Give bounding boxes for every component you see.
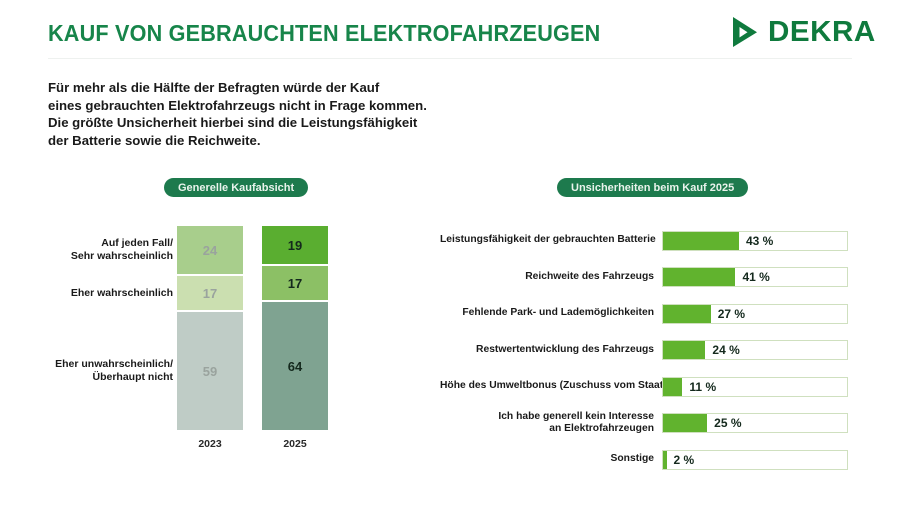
stack-segment: 59 (177, 312, 243, 430)
bar-label: Fehlende Park- und Lademöglichkeiten (440, 307, 662, 319)
bar-track: 25 % (662, 413, 848, 433)
bar-fill (663, 341, 705, 359)
header-divider (48, 58, 852, 59)
bar-label: Leistungsfähigkeit der gebrauchten Batte… (440, 234, 662, 246)
bar-fill (663, 268, 735, 286)
bar-fill (663, 232, 739, 250)
bar-value: 24 % (705, 341, 739, 359)
bar-value: 2 % (667, 451, 695, 469)
subtitle-line-1: Für mehr als die Hälfte der Befragten wü… (48, 79, 518, 97)
bar-fill (663, 378, 682, 396)
bar-label: Restwertentwicklung des Fahrzeugs (440, 344, 662, 356)
stack-segment: 17 (262, 266, 328, 300)
bar-label: Sonstige (440, 453, 662, 465)
bar-label: Höhe des Umweltbonus (Zuschuss vom Staat… (440, 380, 662, 392)
section-pill-kaufabsicht: Generelle Kaufabsicht (164, 178, 308, 197)
bar-label: Reichweite des Fahrzeugs (440, 271, 662, 283)
section-pill-unsicherheiten: Unsicherheiten beim Kauf 2025 (557, 178, 748, 197)
stack-column-2023: 241759 (177, 226, 243, 430)
stack-segment: 17 (177, 276, 243, 310)
horizontal-bar-chart: Leistungsfähigkeit der gebrauchten Batte… (440, 226, 870, 488)
stacked-column-chart: Auf jeden Fall/Sehr wahrscheinlichEher w… (40, 226, 340, 462)
bar-track: 41 % (662, 267, 848, 287)
stack-column-2025: 191764 (262, 226, 328, 430)
bar-track: 2 % (662, 450, 848, 470)
infographic-page: KAUF VON GEBRAUCHTEN ELEKTROFAHRZEUGEN D… (0, 0, 900, 507)
subtitle-line-3: Die größte Unsicherheit hierbei sind die… (48, 114, 518, 132)
bar-track: 24 % (662, 340, 848, 360)
bar-row: Sonstige2 % (440, 449, 870, 470)
bar-row: Höhe des Umweltbonus (Zuschuss vom Staat… (440, 376, 870, 397)
bar-row: Fehlende Park- und Lademöglichkeiten27 % (440, 303, 870, 324)
bar-value: 41 % (735, 268, 769, 286)
bar-fill (663, 305, 711, 323)
dekra-logo: DEKRA (731, 14, 874, 50)
stack-segment: 24 (177, 226, 243, 274)
stack-segment: 19 (262, 226, 328, 264)
bar-row: Ich habe generell kein Interessean Elekt… (440, 413, 870, 434)
subtitle-line-2: eines gebrauchten Elektrofahrzeugs nicht… (48, 97, 518, 115)
bar-track: 43 % (662, 231, 848, 251)
stack-category-label: Eher unwahrscheinlich/Überhaupt nicht (55, 358, 173, 384)
bar-value: 25 % (707, 414, 741, 432)
bar-row: Leistungsfähigkeit der gebrauchten Batte… (440, 230, 870, 251)
bar-label: Ich habe generell kein Interessean Elekt… (440, 411, 662, 436)
bar-row: Reichweite des Fahrzeugs41 % (440, 267, 870, 288)
bar-track: 11 % (662, 377, 848, 397)
dekra-wordmark: DEKRA (768, 18, 876, 47)
subtitle-block: Für mehr als die Hälfte der Befragten wü… (48, 79, 518, 149)
stack-segment: 64 (262, 302, 328, 430)
stack-category-labels: Auf jeden Fall/Sehr wahrscheinlichEher w… (40, 226, 173, 430)
bar-track: 27 % (662, 304, 848, 324)
bar-row: Restwertentwicklung des Fahrzeugs24 % (440, 340, 870, 361)
axis-label-2025: 2025 (262, 438, 328, 450)
axis-label-2023: 2023 (177, 438, 243, 450)
dekra-chevron-icon (731, 16, 759, 48)
bar-value: 11 % (682, 378, 716, 396)
subtitle-line-4: der Batterie sowie die Reichweite. (48, 132, 518, 150)
page-title: KAUF VON GEBRAUCHTEN ELEKTROFAHRZEUGEN (48, 20, 600, 47)
bar-fill (663, 414, 707, 432)
stack-category-label: Auf jeden Fall/Sehr wahrscheinlich (71, 237, 173, 263)
bar-value: 27 % (711, 305, 745, 323)
stack-category-label: Eher wahrscheinlich (71, 287, 173, 300)
bar-value: 43 % (739, 232, 773, 250)
